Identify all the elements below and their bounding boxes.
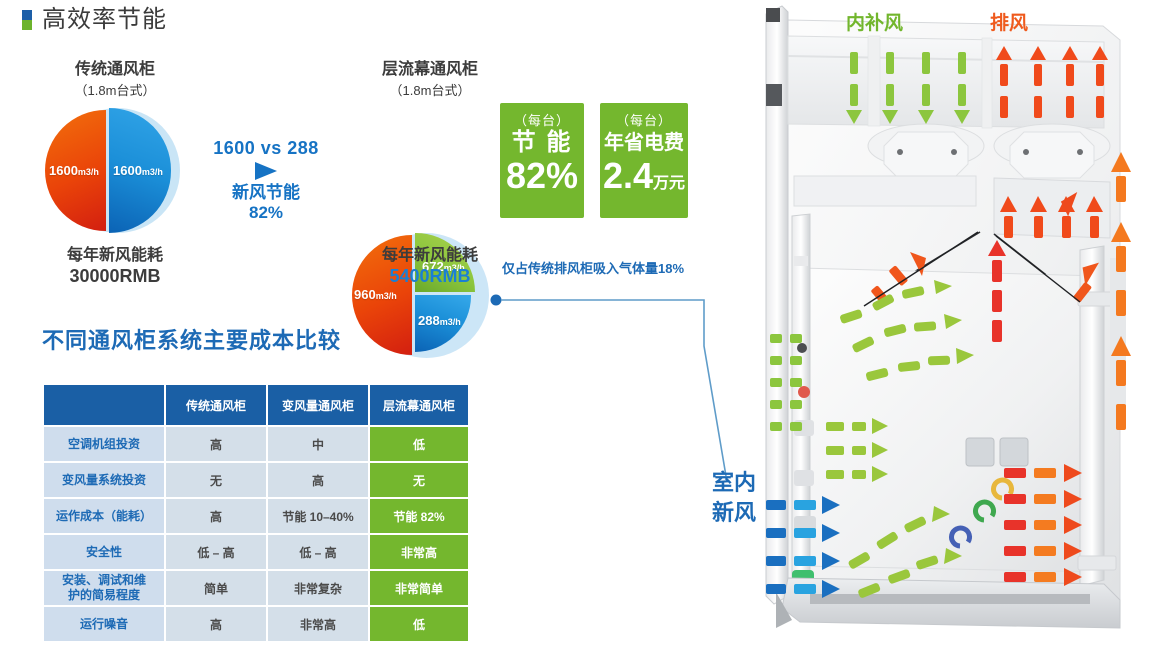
table-row: 运作成本（能耗） 高 节能 10–40% 节能 82%	[44, 499, 468, 533]
fume-hood-illustration	[748, 0, 1149, 660]
row-label: 安装、调试和维 护的简易程度	[44, 571, 164, 605]
cell-laminar: 节能 82%	[370, 499, 468, 533]
callout-text: 仅占传统排风柜吸入气体量18%	[502, 258, 684, 277]
cell-vav: 非常复杂	[268, 571, 368, 605]
label-indoor-fresh-air: 室内 新风	[712, 468, 756, 528]
pie-label-exhaust: 1600m3/h	[49, 163, 99, 178]
cell-traditional: 高	[166, 607, 266, 641]
table-header-row: 传统通风柜 变风量通风柜 层流幕通风柜	[44, 385, 468, 425]
cell-laminar: 非常高	[370, 535, 468, 569]
cell-vav: 低 – 高	[268, 535, 368, 569]
badge-value: 82%	[500, 157, 584, 195]
badge-annual-cost-saving: （每台） 年省电费 2.4万元	[600, 103, 688, 218]
fume-hood-svg	[748, 0, 1149, 660]
arrow-right-icon	[255, 162, 277, 180]
badge-value: 2.4万元	[600, 157, 688, 203]
comparison-table: 传统通风柜 变风量通风柜 层流幕通风柜 空调机组投资 高 中 低 变风量系统投资…	[42, 383, 470, 643]
badge-middle-label: 节 能	[500, 129, 584, 157]
comparison-saving-value: 82%	[196, 203, 336, 223]
cell-laminar: 非常简单	[370, 571, 468, 605]
cell-traditional: 高	[166, 427, 266, 461]
cell-traditional: 低 – 高	[166, 535, 266, 569]
cell-laminar: 无	[370, 463, 468, 497]
page-header: 高效率节能	[22, 8, 167, 32]
airflow-green-horizontal	[826, 418, 888, 482]
cell-laminar: 低	[370, 427, 468, 461]
table-header-laminar: 层流幕通风柜	[370, 385, 468, 425]
cell-vav: 中	[268, 427, 368, 461]
cell-vav: 高	[268, 463, 368, 497]
label-indoor-line2: 新风	[712, 498, 756, 528]
table-header-blank	[44, 385, 164, 425]
pie-footer-traditional: 每年新风能耗 30000RMB	[20, 245, 210, 287]
row-label: 安全性	[44, 535, 164, 569]
row-label: 运作成本（能耗）	[44, 499, 164, 533]
cell-traditional: 简单	[166, 571, 266, 605]
comparison-saving-label: 新风节能	[196, 182, 336, 203]
row-label-line2: 护的简易程度	[46, 588, 162, 603]
row-label: 运行噪音	[44, 607, 164, 641]
label-exhaust-air: 排风	[990, 8, 1028, 35]
pie-label-exhaust: 960m3/h	[354, 287, 397, 302]
pie-label-supply: 288m3/h	[418, 313, 461, 328]
table-title: 不同通风柜系统主要成本比较	[42, 323, 341, 355]
table-row: 空调机组投资 高 中 低	[44, 427, 468, 461]
table-row: 安全性 低 – 高 低 – 高 非常高	[44, 535, 468, 569]
badge-energy-saving: （每台） 节 能 82%	[500, 103, 584, 218]
pie-label-supply: 1600m3/h	[113, 163, 163, 178]
pie-title-laminar: 层流幕通风柜 （1.8m台式）	[330, 60, 530, 101]
callout-leader-line	[486, 276, 746, 496]
badge-top-label: （每台）	[500, 110, 584, 129]
cell-laminar: 低	[370, 607, 468, 641]
badge-top-label: （每台）	[600, 110, 688, 129]
page-title: 高效率节能	[42, 8, 167, 32]
pie-title-traditional: 传统通风柜 （1.8m台式）	[20, 60, 210, 101]
pie-chart-traditional: 1600m3/h 1600m3/h	[45, 108, 185, 233]
row-label-line1: 安装、调试和维	[46, 573, 162, 588]
badge-middle-label: 年省电费	[600, 129, 688, 157]
table-header-traditional: 传统通风柜	[166, 385, 266, 425]
comparison-block: 1600 vs 288 新风节能 82%	[196, 138, 336, 223]
row-label: 空调机组投资	[44, 427, 164, 461]
cell-vav: 非常高	[268, 607, 368, 641]
table-row: 安装、调试和维 护的简易程度 简单 非常复杂 非常简单	[44, 571, 468, 605]
label-makeup-air: 内补风	[846, 8, 903, 35]
cell-traditional: 无	[166, 463, 266, 497]
header-marker-icon	[22, 10, 32, 30]
row-label: 变风量系统投资	[44, 463, 164, 497]
table-row: 变风量系统投资 无 高 无	[44, 463, 468, 497]
table-header-vav: 变风量通风柜	[268, 385, 368, 425]
cell-vav: 节能 10–40%	[268, 499, 368, 533]
cell-traditional: 高	[166, 499, 266, 533]
label-indoor-line1: 室内	[712, 468, 756, 498]
table-row: 运行噪音 高 非常高 低	[44, 607, 468, 641]
comparison-ratio: 1600 vs 288	[196, 138, 336, 159]
